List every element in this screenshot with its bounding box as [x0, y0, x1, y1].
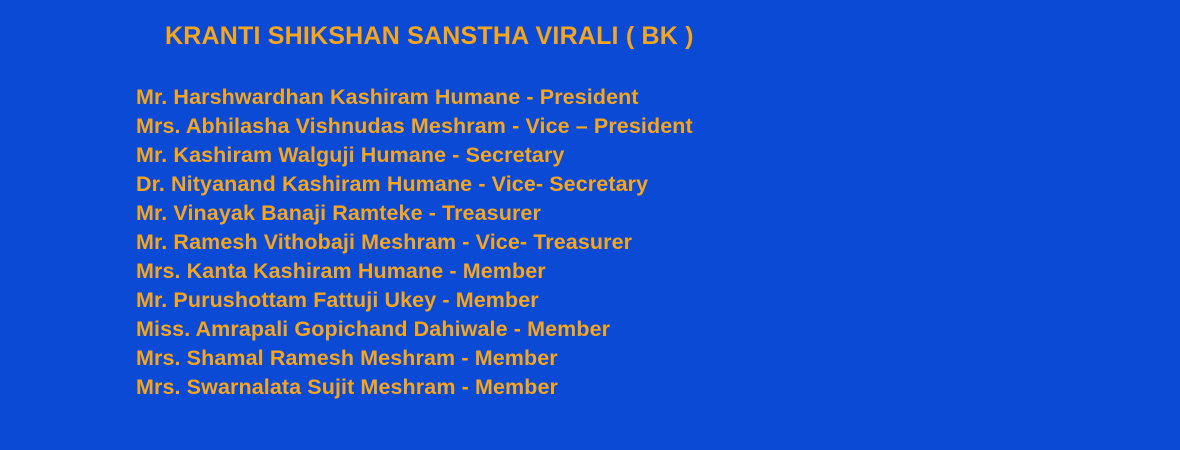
member-role: Member [456, 288, 539, 312]
list-item: Mr. Ramesh Vithobaji Meshram - Vice- Tre… [136, 228, 693, 257]
member-name: Mr. Vinayak Banaji Ramteke [136, 201, 423, 225]
member-name: Mr. Purushottam Fattuji Ukey [136, 288, 436, 312]
member-separator: - [423, 201, 442, 225]
member-role: Member [463, 259, 546, 283]
list-item: Mrs. Kanta Kashiram Humane - Member [136, 257, 693, 286]
member-name: Miss. Amrapali Gopichand Dahiwale [136, 317, 508, 341]
list-item: Mr. Purushottam Fattuji Ukey - Member [136, 286, 693, 315]
member-name: Mrs. Swarnalata Sujit Meshram [136, 375, 456, 399]
list-item: Mr. Kashiram Walguji Humane - Secretary [136, 141, 693, 170]
member-separator: - [506, 114, 525, 138]
member-separator: - [436, 288, 455, 312]
list-item: Mrs. Swarnalata Sujit Meshram - Member [136, 373, 693, 402]
list-item: Miss. Amrapali Gopichand Dahiwale - Memb… [136, 315, 693, 344]
member-name: Mrs. Abhilasha Vishnudas Meshram [136, 114, 506, 138]
member-name: Mrs. Kanta Kashiram Humane [136, 259, 443, 283]
member-name: Mrs. Shamal Ramesh Meshram [136, 346, 455, 370]
committee-member-list: Mr. Harshwardhan Kashiram Humane - Presi… [136, 83, 693, 402]
member-role: Member [475, 346, 558, 370]
member-role: Vice- Secretary [492, 172, 649, 196]
list-item: Mrs. Abhilasha Vishnudas Meshram - Vice … [136, 112, 693, 141]
member-separator: - [456, 375, 475, 399]
member-name: Dr. Nityanand Kashiram Humane [136, 172, 472, 196]
member-name: Mr. Ramesh Vithobaji Meshram [136, 230, 456, 254]
member-role: Secretary [466, 143, 565, 167]
list-item: Mrs. Shamal Ramesh Meshram - Member [136, 344, 693, 373]
member-role: Treasurer [442, 201, 541, 225]
member-separator: - [456, 230, 475, 254]
member-separator: - [443, 259, 462, 283]
member-role: President [540, 85, 639, 109]
page-root: KRANTI SHIKSHAN SANSTHA VIRALI ( BK ) Mr… [0, 0, 1180, 450]
member-role: Member [527, 317, 610, 341]
member-role: Member [475, 375, 558, 399]
member-separator: - [520, 85, 539, 109]
member-role: Vice- Treasurer [476, 230, 632, 254]
member-separator: - [455, 346, 474, 370]
page-title: KRANTI SHIKSHAN SANSTHA VIRALI ( BK ) [165, 21, 694, 51]
list-item: Dr. Nityanand Kashiram Humane - Vice- Se… [136, 170, 693, 199]
member-separator: - [472, 172, 491, 196]
member-name: Mr. Harshwardhan Kashiram Humane [136, 85, 520, 109]
member-separator: - [446, 143, 465, 167]
list-item: Mr. Harshwardhan Kashiram Humane - Presi… [136, 83, 693, 112]
member-separator: - [508, 317, 527, 341]
member-name: Mr. Kashiram Walguji Humane [136, 143, 446, 167]
list-item: Mr. Vinayak Banaji Ramteke - Treasurer [136, 199, 693, 228]
member-role: Vice – President [525, 114, 692, 138]
